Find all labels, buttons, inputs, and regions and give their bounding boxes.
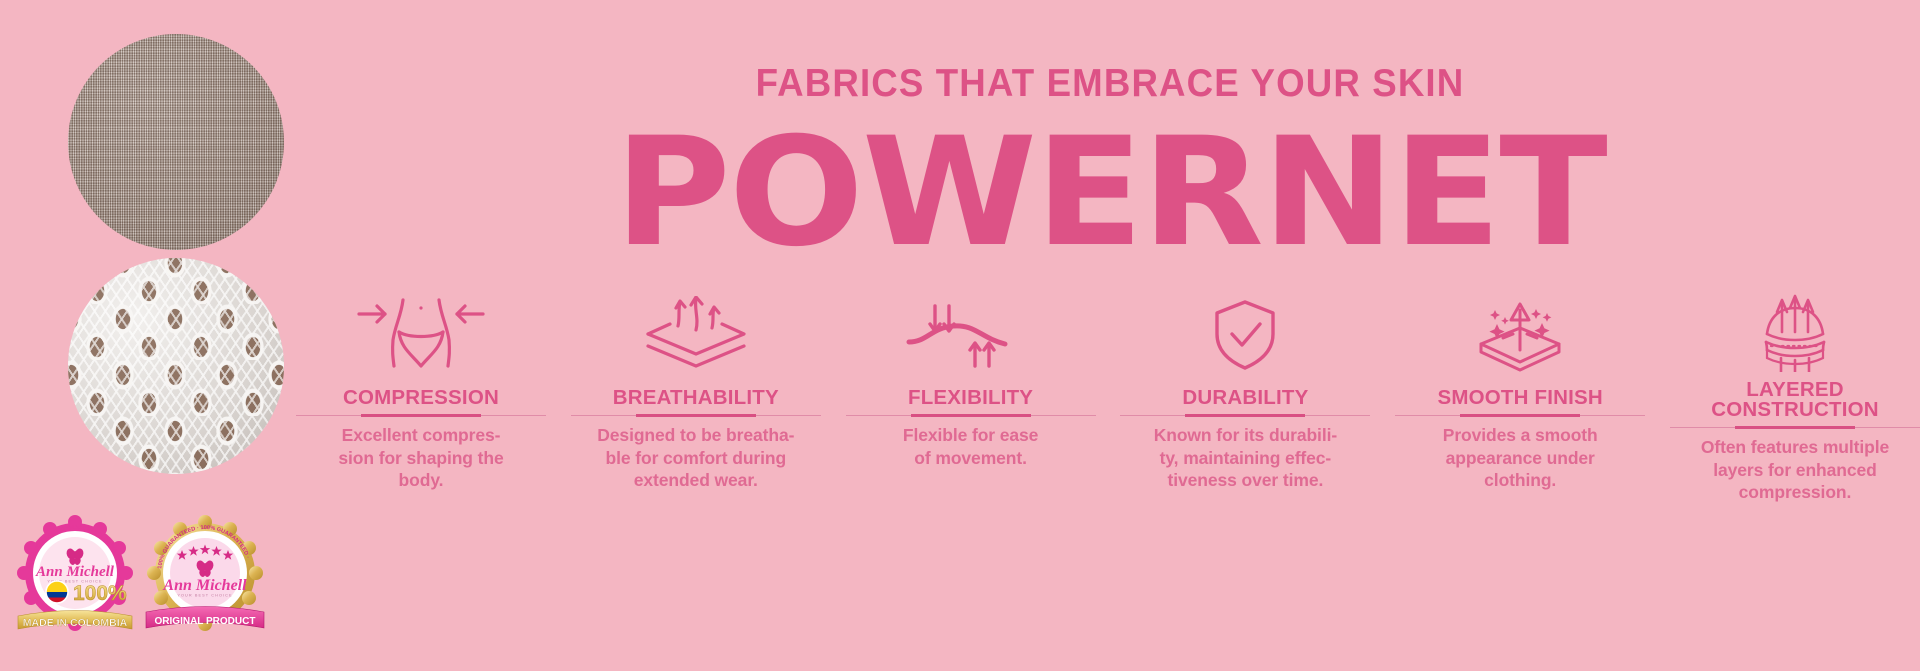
feature-title: DURABILITY — [1182, 388, 1308, 408]
feature-title: FLEXIBILITY — [908, 388, 1033, 408]
feature-body: Designed to be breatha- ble for comfort … — [597, 424, 794, 492]
feature-body: Flexible for ease of movement. — [903, 424, 1038, 469]
feature-smooth-finish: SMOOTH FINISH Provides a smooth appearan… — [1395, 290, 1645, 492]
title-divider — [296, 413, 546, 418]
shield-check-icon — [1175, 290, 1315, 372]
feature-compression: COMPRESSION Excellent compres- sion for … — [296, 290, 546, 492]
banner-wordmark: POWERNET — [251, 118, 1920, 268]
breathable-layers-icon — [626, 290, 766, 372]
flex-wave-icon — [901, 290, 1041, 372]
feature-title: BREATHABILITY — [613, 388, 779, 408]
feature-list: COMPRESSION Excellent compres- sion for … — [296, 290, 1920, 520]
powernet-promo-banner: MADE IN COLOMBIA · MADE IN COLOMBIA · An… — [0, 0, 1920, 671]
title-divider — [1120, 413, 1370, 418]
fabric-swatch-column: MADE IN COLOMBIA · MADE IN COLOMBIA · An… — [0, 0, 300, 671]
badge-original-product: 100% GUARANTEED · 100% GUARANTEED · — [144, 512, 266, 634]
title-divider — [1670, 425, 1920, 430]
mesh-ring-texture — [68, 258, 284, 474]
title-divider — [846, 413, 1096, 418]
layered-fabric-icon — [1725, 290, 1865, 372]
badge-made-in-colombia: MADE IN COLOMBIA · MADE IN COLOMBIA · An… — [14, 512, 136, 634]
feature-body: Known for its durabili- ty, maintaining … — [1154, 424, 1337, 492]
feature-title: LAYERED CONSTRUCTION — [1711, 380, 1879, 420]
badge-original-tagline: YOUR BEST CHOICE — [177, 594, 232, 598]
title-divider — [1395, 413, 1645, 418]
feature-body: Excellent compres- sion for shaping the … — [338, 424, 503, 492]
banner-tagline: FABRICS THAT EMBRACE YOUR SKIN — [349, 62, 1872, 106]
badge-original-ribbon: ORIGINAL PRODUCT — [155, 616, 256, 627]
feature-layered-construction: LAYERED CONSTRUCTION Often features mult… — [1670, 290, 1920, 504]
feature-breathability: BREATHABILITY Designed to be breatha- bl… — [571, 290, 821, 492]
badge-made-percent: 100% — [73, 582, 127, 605]
feature-flexibility: FLEXIBILITY Flexible for ease of movemen… — [846, 290, 1096, 469]
badge-made-ribbon: MADE IN COLOMBIA — [23, 617, 128, 629]
feature-title: COMPRESSION — [343, 388, 499, 408]
title-divider — [571, 413, 821, 418]
fabric-swatch-white — [68, 258, 284, 474]
feature-body: Provides a smooth appearance under cloth… — [1443, 424, 1598, 492]
colombia-flag-icon — [46, 581, 68, 603]
waist-compression-icon — [351, 290, 491, 372]
feature-body: Often features multiple layers for enhan… — [1701, 436, 1889, 504]
badge-rosette-original: 100% GUARANTEED · 100% GUARANTEED · — [146, 515, 264, 631]
smooth-slab-sparkle-icon — [1445, 290, 1595, 372]
badge-rosette-made: MADE IN COLOMBIA · MADE IN COLOMBIA · An… — [16, 515, 134, 631]
badge-made-brand: Ann Michell — [35, 564, 115, 580]
badge-original-brand: Ann Michell — [162, 577, 247, 594]
feature-durability: DURABILITY Known for its durabili- ty, m… — [1120, 290, 1370, 492]
feature-title: SMOOTH FINISH — [1437, 388, 1602, 408]
